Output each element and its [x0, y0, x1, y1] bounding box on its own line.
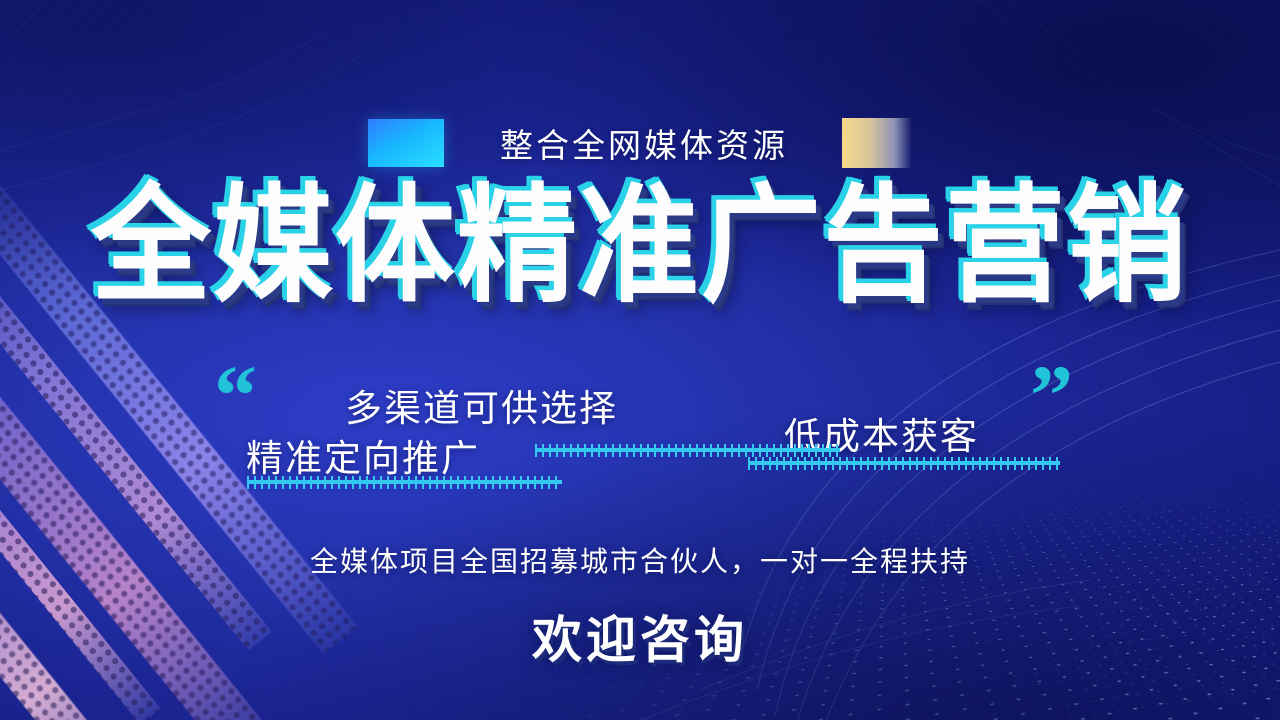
kicker-text: 整合全网媒体资源: [500, 119, 788, 167]
quote-open-icon: “: [214, 352, 257, 438]
poster-content: 整合全网媒体资源 全媒体精准广告营销 “ ” 多渠道可供选择 精准定向推广 低成…: [0, 0, 1280, 720]
gold-swatch-icon: [842, 118, 912, 168]
hero-title-wrap: 全媒体精准广告营销: [0, 186, 1280, 306]
cyan-swatch-icon: [368, 119, 444, 167]
kicker-row: 整合全网媒体资源: [0, 118, 1280, 168]
quote-close-icon: ”: [1030, 352, 1073, 438]
benefit-multichannel: 多渠道可供选择: [345, 378, 618, 432]
recruit-line: 全媒体项目全国招募城市合伙人，一对一全程扶持: [0, 540, 1280, 580]
benefit-low-cost: 低成本获客: [784, 406, 979, 460]
cta-text: 欢迎咨询: [0, 600, 1280, 672]
benefit-targeting: 精准定向推广: [246, 428, 480, 482]
hero-title: 全媒体精准广告营销: [91, 182, 1189, 309]
poster-canvas: 整合全网媒体资源 全媒体精准广告营销 “ ” 多渠道可供选择 精准定向推广 低成…: [0, 0, 1280, 720]
